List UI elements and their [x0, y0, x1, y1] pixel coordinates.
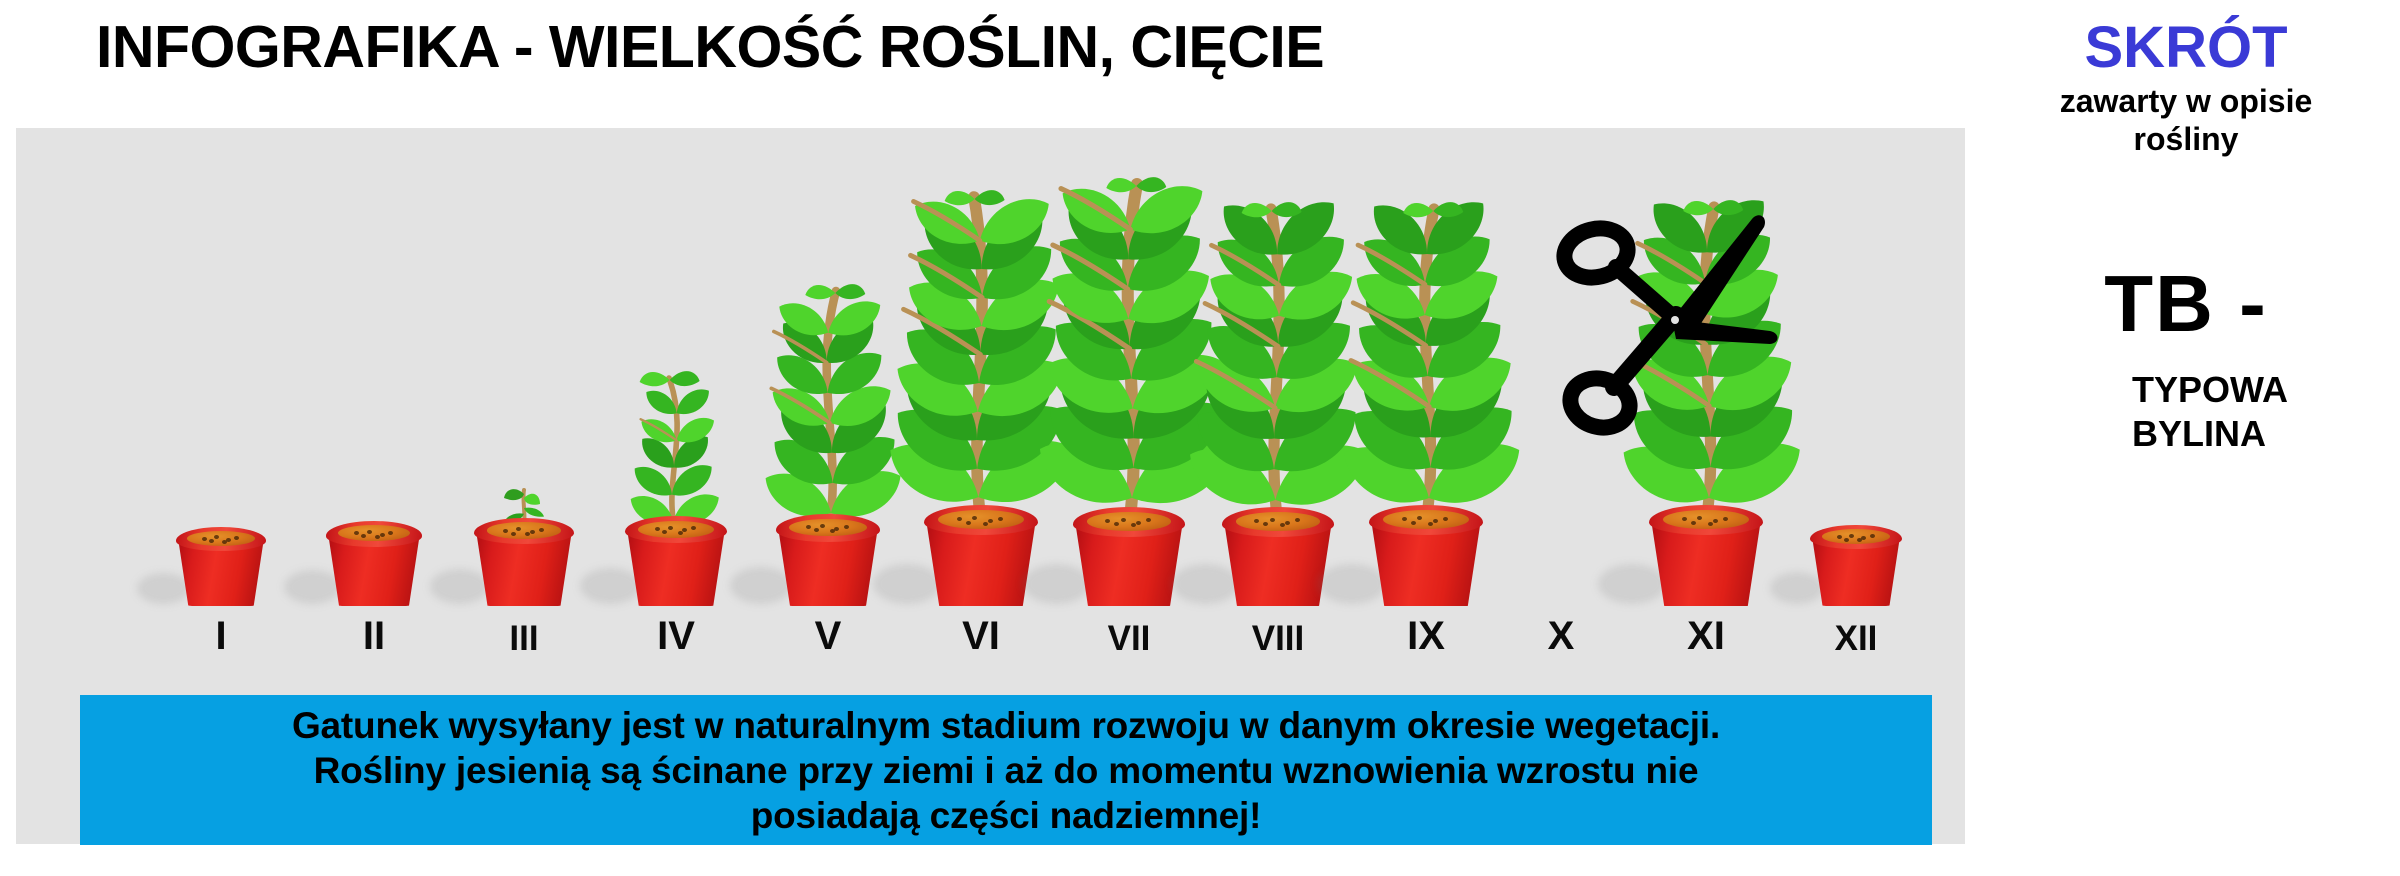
- plant-pot: [1812, 525, 1900, 606]
- legend-expansion: TYPOWA BYLINA: [2132, 368, 2392, 456]
- pot-soil: [187, 531, 254, 546]
- pot-shadow: [1318, 564, 1386, 604]
- month-label-viii: VIII: [1252, 621, 1305, 656]
- infographic-root: INFOGRAFIKA - WIELKOŚĆ ROŚLIN, CIĘCIE I …: [0, 0, 2400, 876]
- legend-panel: SKRÓT zawarty w opisie rośliny TB - TYPO…: [1972, 0, 2400, 876]
- month-label-ix: IX: [1407, 616, 1445, 656]
- pot-shadow: [137, 573, 190, 605]
- legend-subheading: zawarty w opisie rośliny: [1972, 82, 2400, 158]
- month-label-v: V: [815, 616, 842, 656]
- month-label-iv: IV: [657, 616, 695, 656]
- legend-subheading-line-2: rośliny: [1972, 120, 2400, 158]
- plant-pot: [328, 521, 420, 606]
- plant-pot: [178, 527, 264, 606]
- specimen-xii: [1752, 506, 1960, 606]
- month-label-xi: XI: [1687, 616, 1725, 656]
- month-label-x: X: [1548, 616, 1575, 656]
- pot-shadow: [284, 570, 341, 604]
- page-title: INFOGRAFIKA - WIELKOŚĆ ROŚLIN, CIĘCIE: [120, 8, 1300, 86]
- legend-expansion-line-1: TYPOWA: [2132, 368, 2392, 412]
- caption-box: Gatunek wysyłany jest w naturalnym stadi…: [80, 695, 1932, 845]
- month-label-vi: VI: [962, 616, 1000, 656]
- pot-shadow: [580, 568, 641, 604]
- caption-line-1: Gatunek wysyłany jest w naturalnym stadi…: [292, 703, 1720, 748]
- caption-line-2: Rośliny jesienią są ścinane przy ziemi i…: [314, 748, 1699, 793]
- caption-line-3: posiadają części nadziemnej!: [751, 793, 1262, 838]
- growth-timeline-stage: I II III: [16, 128, 1965, 844]
- pot-shadow: [1770, 572, 1825, 604]
- legend-heading: SKRÓT: [1972, 14, 2400, 81]
- month-label-iii: III: [509, 621, 538, 656]
- month-label-ii: II: [363, 616, 385, 656]
- legend-subheading-line-1: zawarty w opisie: [1972, 82, 2400, 120]
- pot-shadow: [430, 569, 490, 604]
- month-label-i: I: [215, 616, 226, 656]
- month-label-xii: XII: [1835, 621, 1878, 656]
- legend-code: TB -: [1972, 258, 2400, 350]
- legend-expansion-line-2: BYLINA: [2132, 412, 2392, 456]
- month-label-vii: VII: [1108, 621, 1151, 656]
